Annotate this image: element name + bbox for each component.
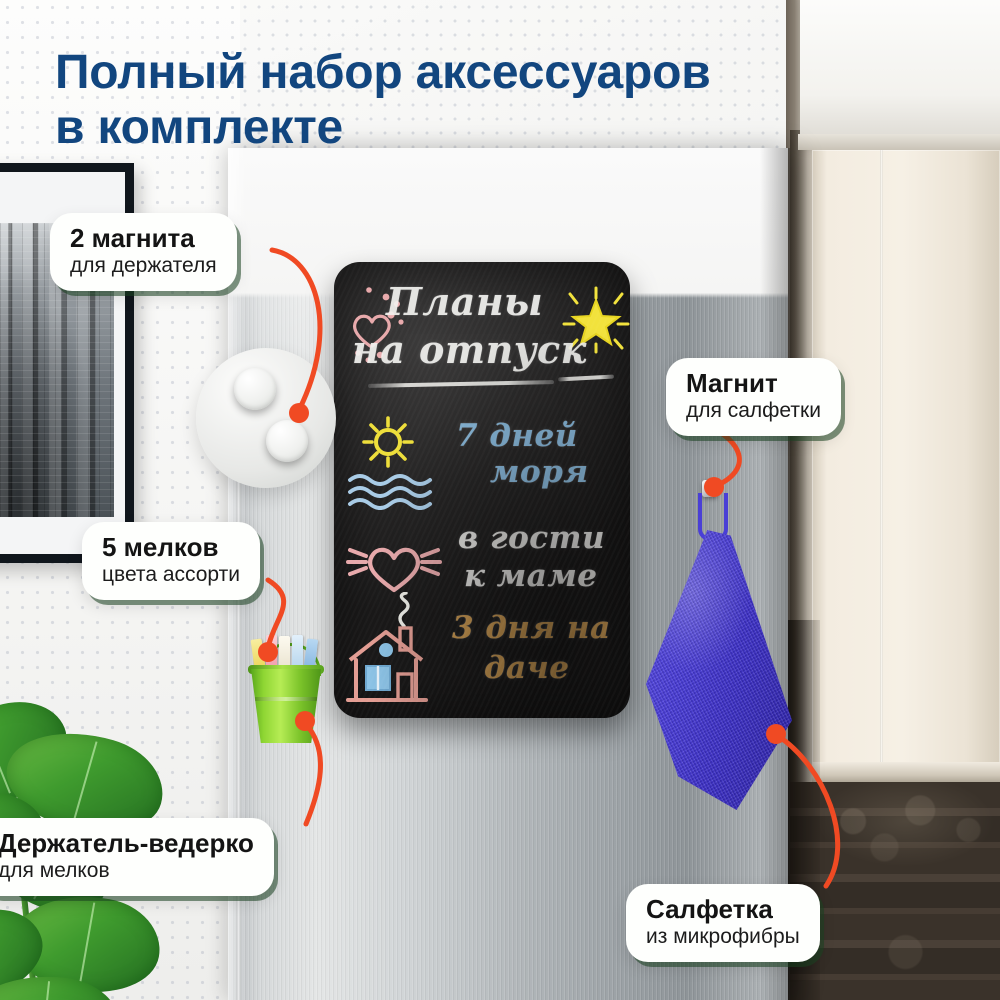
chalkboard-entry-0-line1: 7 дней: [456, 422, 578, 452]
patterned-floor: [790, 782, 1000, 1000]
cabinet-plinth: [812, 762, 1000, 784]
sun-and-waves-icon: [346, 410, 450, 510]
chalkboard-entry-1-line2: к маме: [464, 562, 598, 592]
chalkboard-entry-0-line2: моря: [490, 458, 589, 488]
heart-icon: [344, 528, 448, 602]
bucket-icon[interactable]: [245, 635, 327, 745]
cabinet-tall-door: [812, 150, 1000, 770]
magnet-backing-plate: [196, 348, 336, 488]
callout-bucket-holder-line2: для мелков: [0, 859, 254, 884]
callout-magnets-line1: 2 магнита: [70, 224, 217, 254]
chalkboard-entry-1-line1: в гости: [458, 524, 605, 554]
callout-chalks[interactable]: 5 мелков цвета ассорти: [82, 522, 260, 600]
page-title-line2: в комплекте: [55, 101, 955, 156]
magnet-pair-icon[interactable]: [234, 368, 276, 410]
chalkboard-title-line1: Планы: [386, 284, 543, 320]
star-sparkle-icon: [562, 286, 630, 354]
callout-napkin-line1: Салфетка: [646, 895, 800, 925]
house-icon: [342, 592, 454, 714]
bucket-band: [255, 697, 317, 701]
chalkboard-title-underline: [368, 380, 554, 388]
callout-magnets-line2: для держателя: [70, 254, 217, 279]
heart-with-dots-icon: [344, 284, 414, 368]
chalkboard-title-underline-2: [558, 375, 614, 382]
chalkboard-entry-2-line2: даче: [484, 654, 570, 684]
callout-napkin-line2: из микрофибры: [646, 925, 800, 950]
callout-magnets[interactable]: 2 магнита для держателя: [50, 213, 237, 291]
chalkboard-title-line2: на отпуск: [352, 332, 587, 368]
callout-towel-magnet[interactable]: Магнит для салфетки: [666, 358, 841, 436]
fridge-door-seam: [236, 400, 241, 1000]
callout-towel-magnet-line2: для салфетки: [686, 399, 821, 424]
infographic-canvas: Планы на отпуск 7 дней моря в гости к ма…: [0, 0, 1000, 1000]
page-title: Полный набор аксессуаров в комплекте: [55, 46, 955, 155]
towel-cloth: [646, 530, 792, 810]
callout-chalks-line1: 5 мелков: [102, 533, 240, 563]
page-title-line1: Полный набор аксессуаров: [55, 46, 955, 101]
callout-napkin[interactable]: Салфетка из микрофибры: [626, 884, 820, 962]
chalkboard-entry-2-line1: 3 дня на: [452, 614, 611, 644]
microfiber-towel-icon[interactable]: [646, 480, 796, 810]
cabinet-door-seam: [880, 150, 883, 770]
callout-chalks-line2: цвета ассорти: [102, 563, 240, 588]
callout-bucket-holder-line1: Держатель-ведерко: [0, 829, 254, 859]
callout-bucket-holder[interactable]: Держатель-ведерко для мелков: [0, 818, 274, 896]
magnet-pair-icon[interactable]: [266, 420, 308, 462]
bucket-body: [251, 669, 321, 743]
chalkboard[interactable]: Планы на отпуск 7 дней моря в гости к ма…: [334, 262, 630, 718]
callout-towel-magnet-line1: Магнит: [686, 369, 821, 399]
